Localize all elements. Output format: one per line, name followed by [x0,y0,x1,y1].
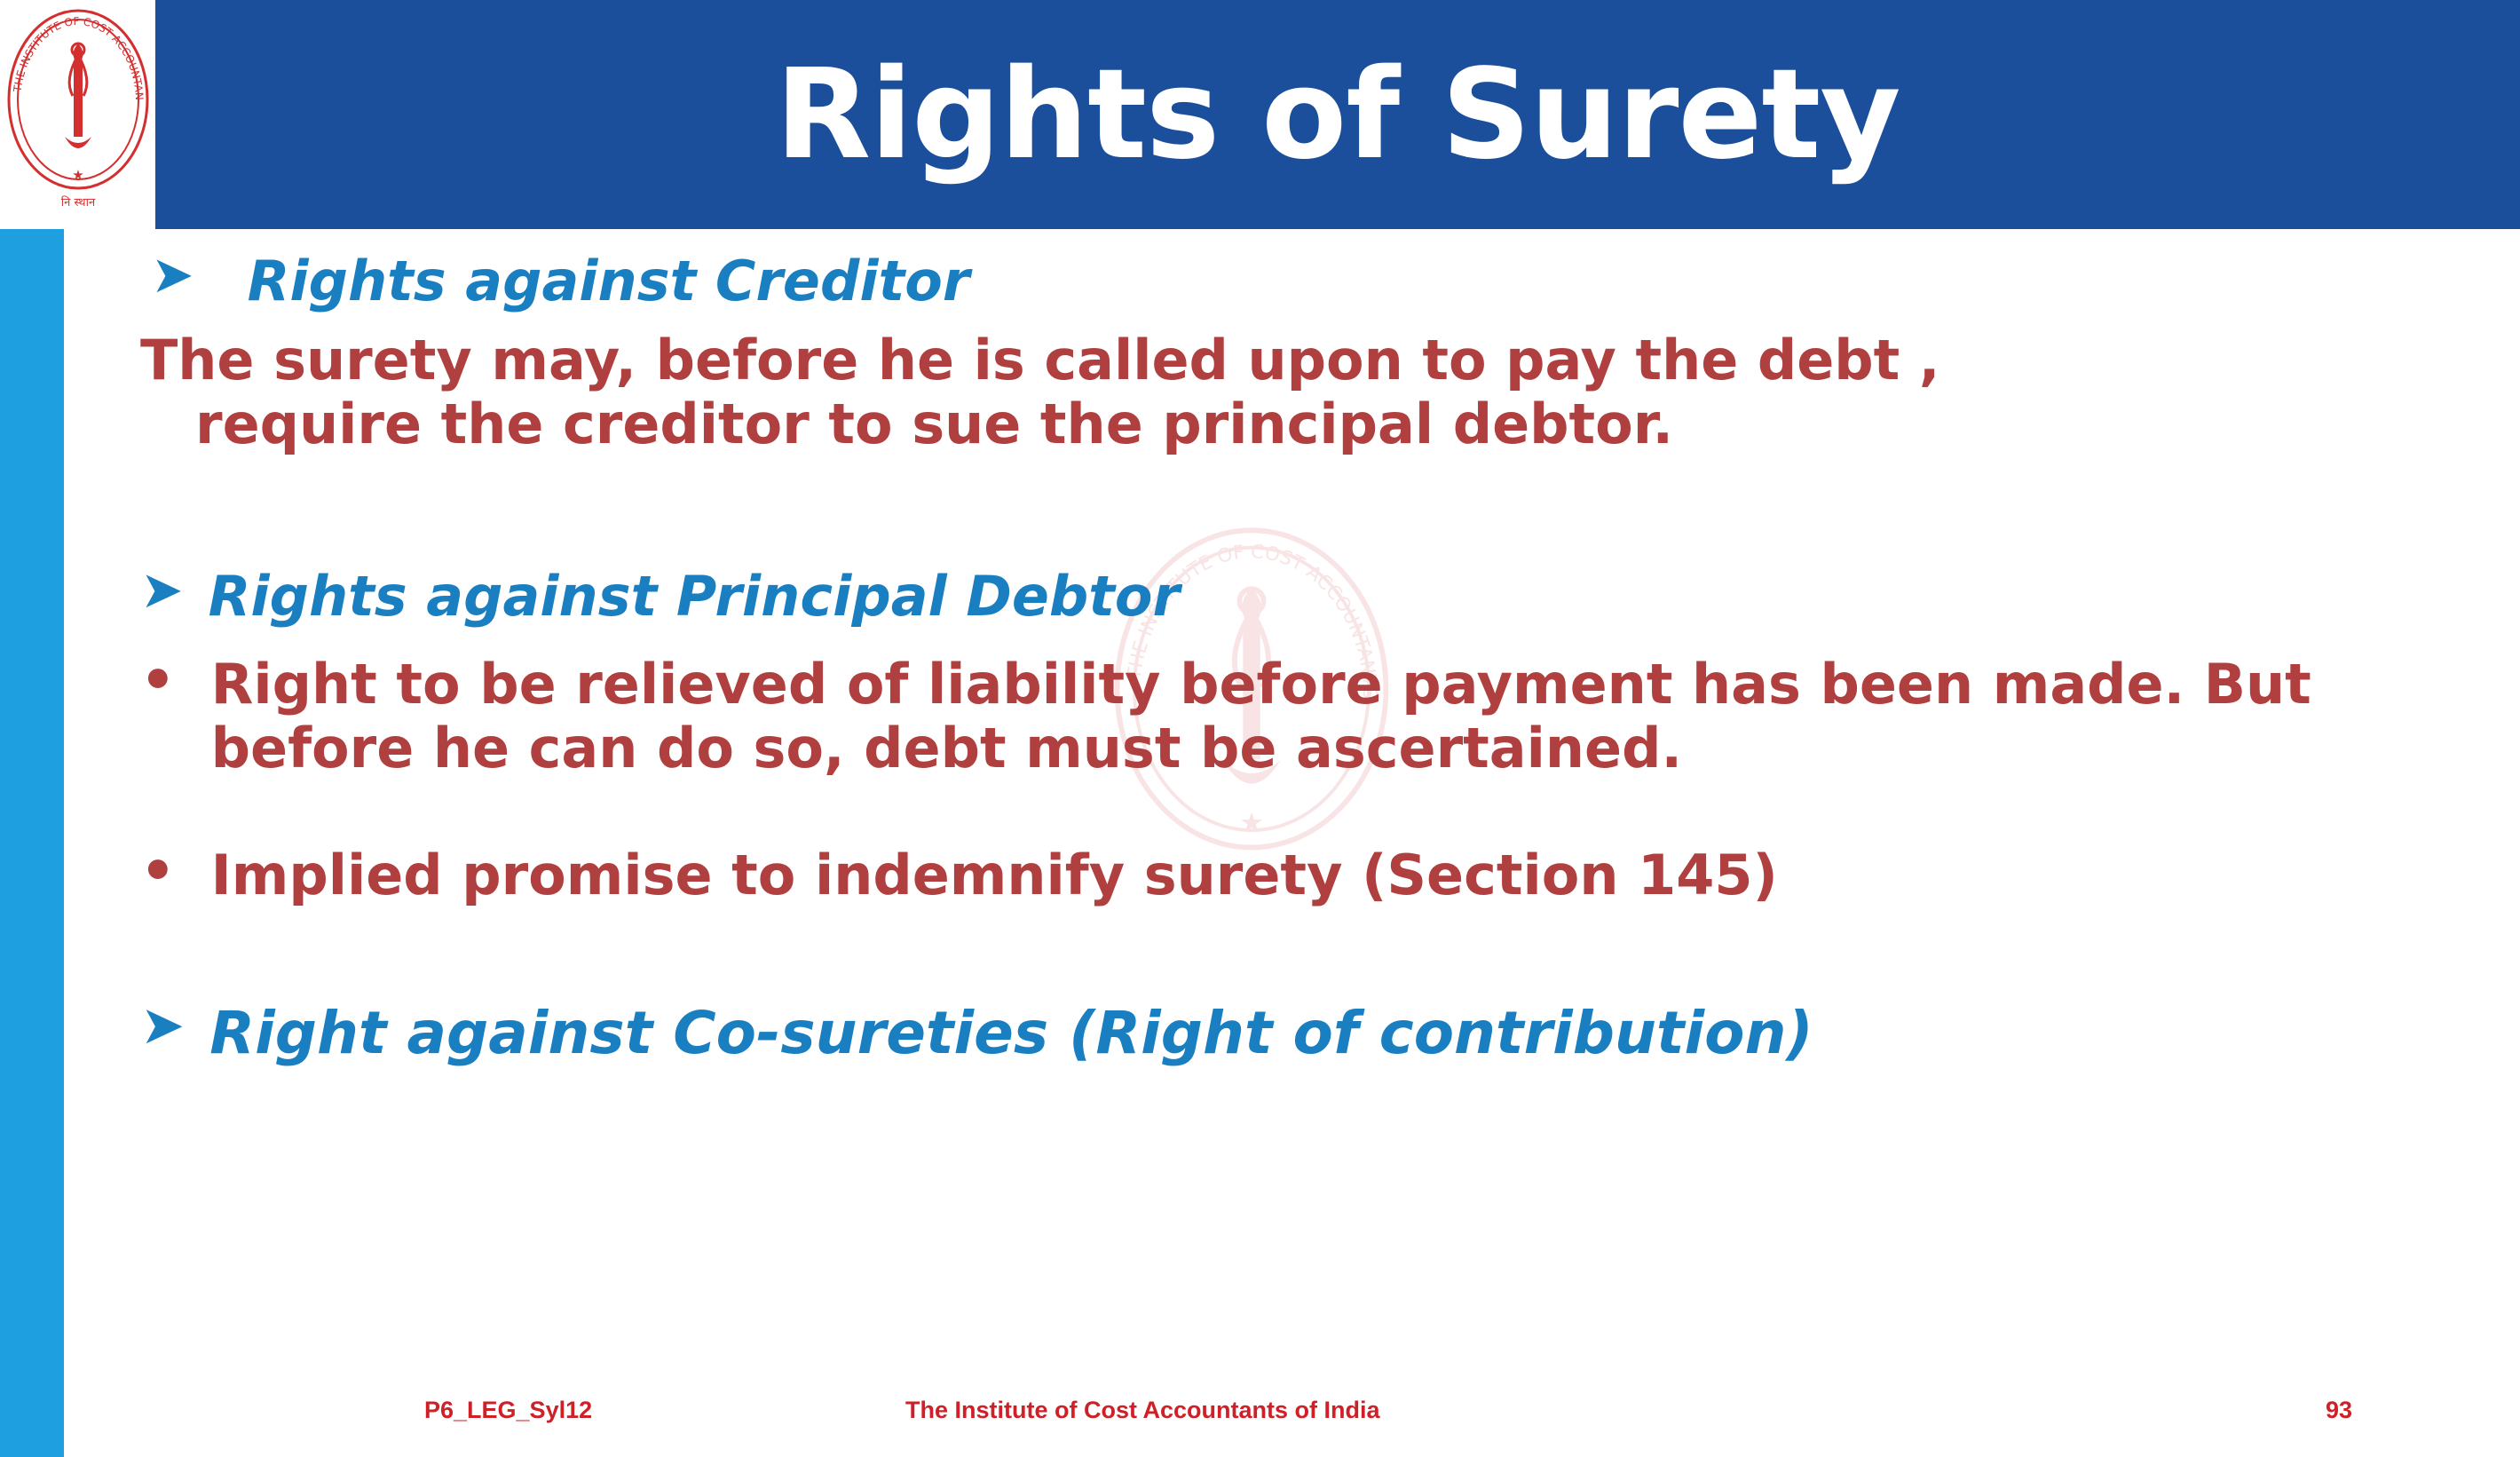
institute-logo: ★ नि स्थान THE INSTITUTE OF COST ACCOUNT… [0,0,155,229]
heading-3-label: Right against Co-sureties (Right of cont… [209,999,1813,1067]
chevron-bullet-icon: ➤ [140,564,184,615]
footer-subject-code: P6_LEG_Syl12 [424,1397,592,1424]
page-title: Rights of Surety [155,0,2520,229]
paragraph-1-line-2: require the creditor to sue the principa… [140,392,2377,456]
footer-institute-name: The Institute of Cost Accountants of Ind… [905,1397,1380,1424]
heading-2-label: Rights against Principal Debtor [209,564,1180,629]
list-item: • Implied promise to indemnify surety (S… [140,843,2395,907]
footer-page-number: 93 [2326,1397,2352,1424]
chevron-bullet-icon: ➤ [151,249,194,300]
heading-1-label: Rights against Creditor [248,249,970,313]
paragraph-1-line-1: The surety may, before he is called upon… [140,328,1939,392]
dot-bullet-icon: • [140,653,176,708]
slide-body: ➤ Rights against Creditor The surety may… [98,240,2423,1332]
paragraph-rights-against-creditor: The surety may, before he is called upon… [140,329,2377,456]
dot-bullet-icon: • [140,843,176,899]
list-item: • Right to be relieved of liability befo… [140,653,2395,780]
bullet-2-label: Implied promise to indemnify surety (Sec… [211,843,1778,907]
slide-footer: P6_LEG_Syl12 The Institute of Cost Accou… [0,1397,2520,1432]
heading-rights-against-principal-debtor: ➤ Rights against Principal Debtor [140,564,1180,629]
chevron-bullet-icon: ➤ [140,999,185,1052]
heading-right-against-co-sureties: ➤ Right against Co-sureties (Right of co… [140,999,1813,1067]
svg-text:★: ★ [72,167,83,183]
title-band: ★ नि स्थान THE INSTITUTE OF COST ACCOUNT… [0,0,2520,229]
left-accent-bar [0,229,64,1457]
bullet-1-label: Right to be relieved of liability before… [211,653,2395,780]
heading-rights-against-creditor: ➤ Rights against Creditor [151,249,969,313]
svg-text:नि स्थान: नि स्थान [60,195,95,210]
icai-emblem-icon: ★ नि स्थान THE INSTITUTE OF COST ACCOUNT… [3,4,154,226]
